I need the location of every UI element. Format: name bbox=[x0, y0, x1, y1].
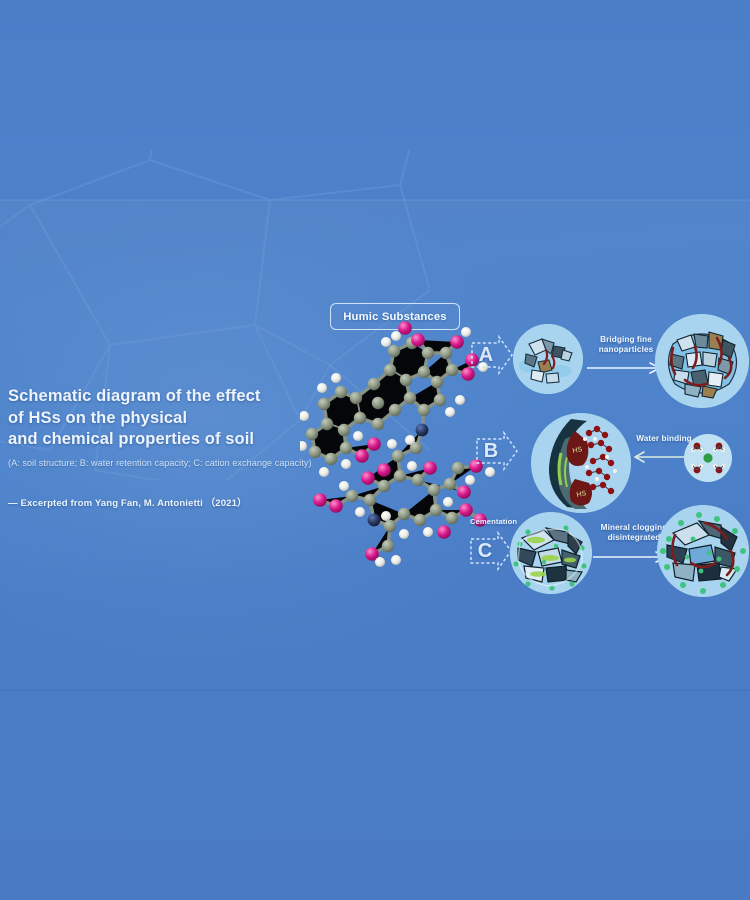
panel-a-blob-before bbox=[513, 324, 583, 394]
mineral-disintegrated-aggregate-illustration bbox=[657, 505, 749, 597]
figure-subtitle: (A: soil structure; B: water retention c… bbox=[8, 457, 338, 469]
band-bottom-edge bbox=[0, 689, 750, 691]
figure-text-block: Schematic diagram of the effect of HSs o… bbox=[8, 386, 338, 509]
page-title-line-2: of HSs on the physical bbox=[8, 408, 338, 430]
panel-b-letter: B bbox=[474, 430, 508, 472]
panel-c-blob-before bbox=[510, 512, 592, 594]
humic-water-retention-illustration: HS HS bbox=[531, 413, 631, 513]
mineral-clogged-aggregate-illustration bbox=[510, 512, 592, 594]
panel-c-pre-label: Cementation bbox=[470, 517, 517, 526]
arrow-right-icon-a bbox=[586, 361, 666, 375]
chevron-c: C bbox=[468, 530, 514, 572]
chevron-a: A bbox=[469, 334, 515, 376]
hydrated-cation-illustration bbox=[684, 434, 732, 482]
panel-c-letter: C bbox=[468, 530, 502, 572]
chevron-b: B bbox=[474, 430, 520, 472]
page-title-line-3: and chemical properties of soil bbox=[8, 429, 338, 451]
panel-a-letter: A bbox=[469, 334, 503, 376]
panel-b-blob-water bbox=[684, 434, 732, 482]
soil-aggregate-loose-illustration bbox=[513, 324, 583, 394]
page-title-line-1: Schematic diagram of the effect bbox=[8, 386, 338, 408]
soil-aggregate-bridged-illustration bbox=[655, 314, 749, 408]
panel-a-blob-after bbox=[655, 314, 749, 408]
panel-c-blob-after bbox=[657, 505, 749, 597]
panel-b-blob-main: HS HS bbox=[531, 413, 631, 513]
figure-citation: — Excerpted from Yang Fan, M. Antonietti… bbox=[8, 495, 338, 509]
